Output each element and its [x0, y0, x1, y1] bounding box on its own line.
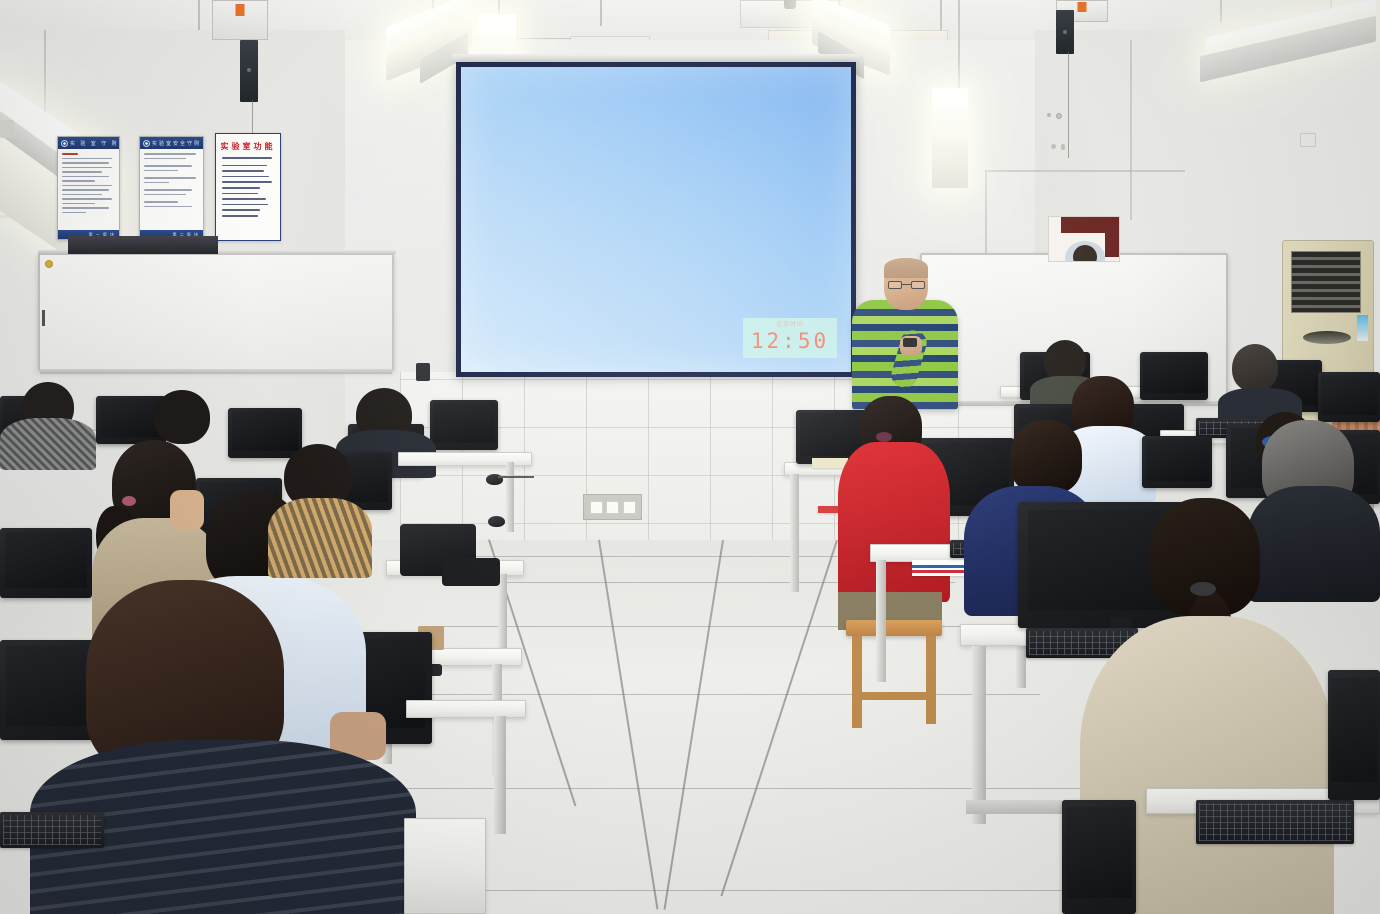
hair-tie: [876, 432, 892, 442]
glasses-icon: [888, 281, 925, 289]
orange-label: [236, 4, 245, 16]
speaker-dot-icon: [247, 68, 251, 72]
poster-lab-safety[interactable]: 实验室安全守则 第 二 版 块: [139, 136, 204, 240]
monitor: [228, 408, 302, 458]
poster-title: 实 验 室 守 则: [70, 140, 119, 147]
monitor: [1140, 352, 1208, 400]
clock-time: 12:50: [743, 329, 837, 353]
poster-title: 实验室安全守则: [152, 140, 201, 147]
desk: [404, 818, 486, 914]
left-whiteboard[interactable]: [38, 253, 394, 371]
student-head: [154, 390, 210, 444]
stool-leg: [852, 636, 862, 728]
hair-tie: [122, 496, 136, 506]
keyboard[interactable]: [0, 812, 104, 848]
speaker-dot-icon: [1063, 30, 1067, 34]
speaker-left: [240, 40, 258, 102]
poster-header: 实验室安全守则: [140, 137, 203, 149]
light-rod: [1220, 0, 1222, 22]
mouse-cable: [498, 476, 534, 478]
desk-leg: [876, 560, 886, 682]
wall-screw-icon: [1051, 144, 1056, 149]
wall-fixture: [0, 120, 14, 138]
sticker-icon: [45, 260, 53, 268]
light-rod: [958, 0, 960, 92]
monitor: [430, 400, 498, 450]
light-switch[interactable]: [623, 501, 636, 514]
wall-seam: [985, 170, 1185, 172]
photo-person: [1073, 245, 1097, 262]
glasses-lens: [888, 281, 902, 289]
ac-energy-label: [1357, 315, 1368, 341]
wall-photo-frame: [1048, 216, 1120, 262]
ceiling-seam: [940, 0, 942, 30]
desk-leg: [790, 474, 799, 592]
classroom-photo: 实 验 室 守 则 第 一 版 块 实验室安全守则 第 二 版 块: [0, 0, 1380, 914]
wall-screw-icon: [1061, 144, 1065, 150]
ceiling-seam: [600, 0, 602, 26]
poster-intro-line: [216, 157, 280, 159]
ceiling-light: [932, 88, 968, 188]
monitor: [1328, 670, 1380, 800]
poster-item-list: [216, 165, 280, 217]
poster-title: 实验室功能: [216, 141, 280, 152]
poster-body: [140, 149, 203, 207]
student-body: [1248, 486, 1380, 602]
light-switch[interactable]: [606, 501, 619, 514]
keyboard[interactable]: [1196, 800, 1354, 844]
desk-leg: [494, 716, 506, 834]
monitor: [1318, 372, 1380, 422]
light-switch-panel[interactable]: [583, 494, 642, 520]
speaker-right: [1056, 10, 1074, 54]
wall-screw-icon: [1056, 113, 1062, 119]
mouse[interactable]: [488, 516, 505, 527]
wall-outlet[interactable]: [1300, 133, 1316, 147]
projector-mount: [784, 0, 796, 9]
student-head: [1010, 420, 1082, 494]
whiteboard-clip: [42, 310, 45, 326]
emblem-icon: [61, 140, 68, 147]
poster-lab-functions[interactable]: 实验室功能: [215, 133, 281, 241]
student-body: [0, 418, 96, 470]
photo-band: [1105, 217, 1119, 257]
whiteboard-tray: [40, 369, 392, 374]
monitor: [1062, 800, 1136, 914]
speaker-cable: [1068, 52, 1069, 158]
student-hand: [170, 490, 204, 530]
wall-panel-box-left: [212, 0, 268, 40]
phone[interactable]: [818, 506, 840, 513]
presenter-remote[interactable]: [903, 338, 917, 347]
ac-vent-grille: [1291, 251, 1361, 313]
poster-lab-rules[interactable]: 实 验 室 守 则 第 一 版 块: [57, 136, 120, 240]
desk: [406, 700, 526, 718]
teacher-hair: [884, 258, 928, 278]
clock-label: 北京时间: [743, 321, 837, 329]
floor-seam: [390, 694, 1040, 695]
floor-seam: [330, 788, 1110, 789]
desk-leg: [506, 462, 514, 532]
wall-screw-icon: [1047, 113, 1051, 117]
stool-leg: [926, 636, 936, 724]
laptop-bag: [442, 558, 500, 586]
student-head: [1232, 344, 1278, 392]
student-body: [268, 498, 372, 578]
desk-leg: [972, 646, 986, 824]
wall-marker-holder: [416, 363, 430, 381]
projection-screen: 北京时间 12:50: [456, 62, 856, 377]
monitor: [1142, 436, 1212, 488]
light-switch[interactable]: [590, 501, 603, 514]
projected-slide: 北京时间 12:50: [461, 67, 851, 372]
glasses-lens: [911, 281, 925, 289]
stool-brace: [862, 692, 928, 700]
student-body: [838, 442, 950, 602]
glasses-bridge: [902, 284, 911, 285]
monitor: [0, 528, 92, 598]
paper-sheet: [812, 458, 848, 468]
emblem-icon: [143, 140, 150, 147]
hair-tie: [1190, 582, 1216, 596]
orange-label: [1078, 2, 1087, 12]
whiteboard-shadow-rail: [68, 236, 218, 254]
stool-seat: [846, 620, 942, 636]
wall-seam: [1130, 40, 1132, 220]
ac-display-panel: [1303, 331, 1351, 344]
clock-widget: 北京时间 12:50: [743, 318, 837, 358]
poster-header: 实 验 室 守 则: [58, 137, 119, 149]
poster-body: [58, 149, 119, 213]
